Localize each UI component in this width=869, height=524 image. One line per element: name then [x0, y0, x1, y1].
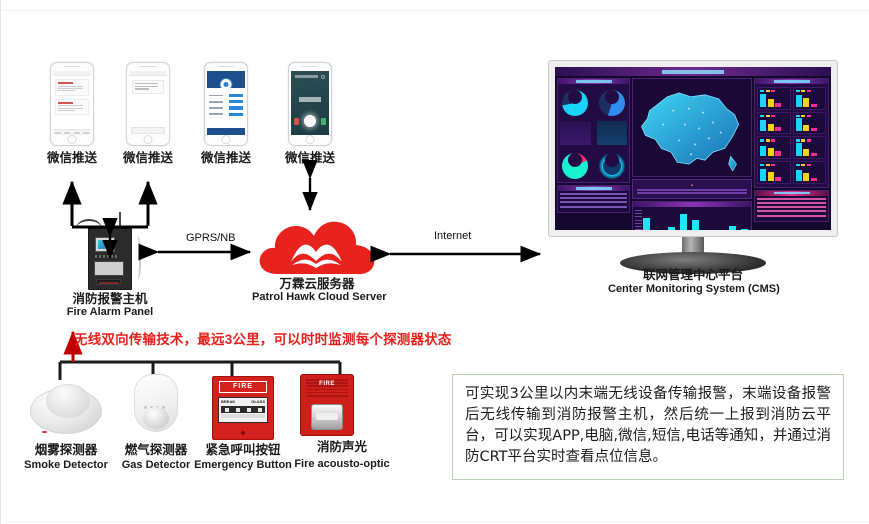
phone-home-button[interactable] — [68, 135, 77, 144]
cloud-server-label-cn: 万霖云服务器 — [252, 277, 382, 292]
cms-label-cn: 联网管理中心平台 — [608, 268, 778, 283]
phone-screen — [207, 71, 245, 135]
phone-screen — [291, 71, 329, 135]
break-label: BREAK — [221, 399, 235, 404]
smoke-detector-led — [42, 431, 47, 434]
dashboard-kpi-panel — [557, 78, 630, 183]
phone-home-button[interactable] — [144, 135, 153, 144]
emergency-button-indicator — [241, 431, 245, 435]
fire-alarm-panel-label-en: Fire Alarm Panel — [60, 306, 160, 319]
phone-speaker — [64, 66, 80, 68]
phone-wechat-message-label: 微信推送 — [114, 151, 182, 166]
phone-wechat-chatlist[interactable] — [50, 62, 94, 146]
device-fire-acousto-optic[interactable]: FIRE — [300, 374, 354, 436]
phone-incoming-call-label: 微信推送 — [276, 151, 344, 166]
cms-dashboard: ▲ — [555, 67, 831, 230]
system-description-box: 可实现3公里以内末端无线设备传输报警，末端设备报警后无线传输到消防报警主机，然后… — [452, 374, 844, 480]
phone-wechat-message[interactable] — [126, 62, 170, 146]
smoke-detector-cap — [46, 384, 90, 418]
emergency-button-header: FIRE — [219, 381, 267, 393]
emergency-button-window: BREAK GLASS — [218, 397, 268, 423]
panel-led-row — [95, 255, 117, 258]
phone-screen — [53, 71, 91, 135]
phone-wechat-chatlist-label: 微信推送 — [38, 151, 106, 166]
dashboard-bar-chart — [632, 201, 752, 230]
cloud-server-label-en: Patrol Hawk Cloud Server — [252, 291, 382, 304]
dashboard-alert-ticker: ▲ — [632, 179, 752, 199]
phone-home-button[interactable] — [222, 135, 231, 144]
phone-speaker — [218, 66, 234, 68]
phone-incoming-call[interactable] — [288, 62, 332, 146]
gas-detector-sensor — [143, 407, 169, 429]
phone-screen — [129, 71, 167, 135]
emergency-button-face-text: FIRE — [220, 382, 266, 392]
cms-monitor[interactable]: ▲ — [548, 60, 838, 275]
page-top-border — [0, 10, 869, 11]
fire-acousto-optic-label-en: Fire acousto-optic — [282, 458, 402, 471]
dashboard-center-column: ▲ — [632, 78, 752, 228]
device-gas-detector[interactable] — [130, 374, 182, 442]
dashboard-title-bar — [555, 67, 831, 76]
link-label-gprs-nb: GPRS/NB — [186, 232, 236, 244]
gas-detector-label-en: Gas Detector — [110, 459, 202, 472]
page-bottom-border — [0, 521, 869, 522]
link-label-internet: Internet — [434, 230, 471, 242]
fire-acousto-optic-label-cn: 消防声光 — [296, 440, 388, 455]
dashboard-device-stats — [754, 78, 829, 188]
dashboard-left-column — [557, 78, 630, 228]
accept-call-icon[interactable] — [321, 118, 326, 125]
diagram-canvas: 微信推送 微信推送 微信推送 — [0, 0, 869, 524]
panel-nameplate — [96, 279, 121, 285]
dashboard-alarm-list — [754, 190, 829, 222]
warning-icon: ▲ — [635, 182, 749, 187]
panel-lcd-screen — [95, 237, 115, 252]
monitor-bezel: ▲ — [548, 60, 838, 237]
device-fire-alarm-panel[interactable] — [88, 228, 132, 290]
page-left-border — [0, 0, 1, 524]
cms-label-en: Center Monitoring System (CMS) — [608, 283, 778, 296]
panel-door — [94, 261, 124, 276]
emergency-button-label-en: Emergency Button — [190, 459, 296, 472]
device-emergency-button[interactable]: FIRE BREAK GLASS — [212, 376, 274, 440]
cloud-server-graphic — [258, 218, 376, 280]
panel-cable — [132, 236, 141, 280]
wireless-banner-text: 无线双向传输技术，最远3公里，可以时时监测每个探测器状态 — [74, 328, 452, 348]
siren-face-text: FIRE — [300, 381, 354, 387]
china-map-icon — [633, 79, 752, 177]
siren-strobe-lamp — [311, 404, 343, 430]
dashboard-right-column — [754, 78, 829, 228]
smoke-detector-label-cn: 烟雾探测器 — [20, 443, 112, 458]
cloud-icon — [258, 218, 376, 280]
bar-chart-series — [643, 209, 748, 230]
smoke-detector-label-en: Smoke Detector — [20, 459, 112, 472]
gas-detector-vents — [144, 396, 168, 401]
phone-speaker — [140, 66, 156, 68]
device-smoke-detector[interactable] — [30, 378, 102, 440]
phone-app-dashboard[interactable] — [204, 62, 248, 146]
phone-home-button[interactable] — [306, 135, 315, 144]
fire-alarm-panel-label-cn: 消防报警主机 — [60, 292, 160, 307]
phone-speaker — [302, 66, 318, 68]
dashboard-event-log — [557, 185, 630, 213]
emergency-button-label-cn: 紧急呼叫按钮 — [190, 443, 296, 458]
phone-app-dashboard-label: 微信推送 — [192, 151, 260, 166]
antenna-icon — [119, 212, 121, 229]
china-map — [632, 78, 752, 177]
glass-label: GLASS — [251, 399, 265, 404]
gas-detector-label-cn: 燃气探测器 — [110, 443, 202, 458]
gear-icon — [321, 75, 325, 79]
system-description-text: 可实现3公里以内末端无线设备传输报警，末端设备报警后无线传输到消防报警主机，然后… — [465, 384, 831, 468]
decline-call-icon[interactable] — [294, 118, 299, 125]
